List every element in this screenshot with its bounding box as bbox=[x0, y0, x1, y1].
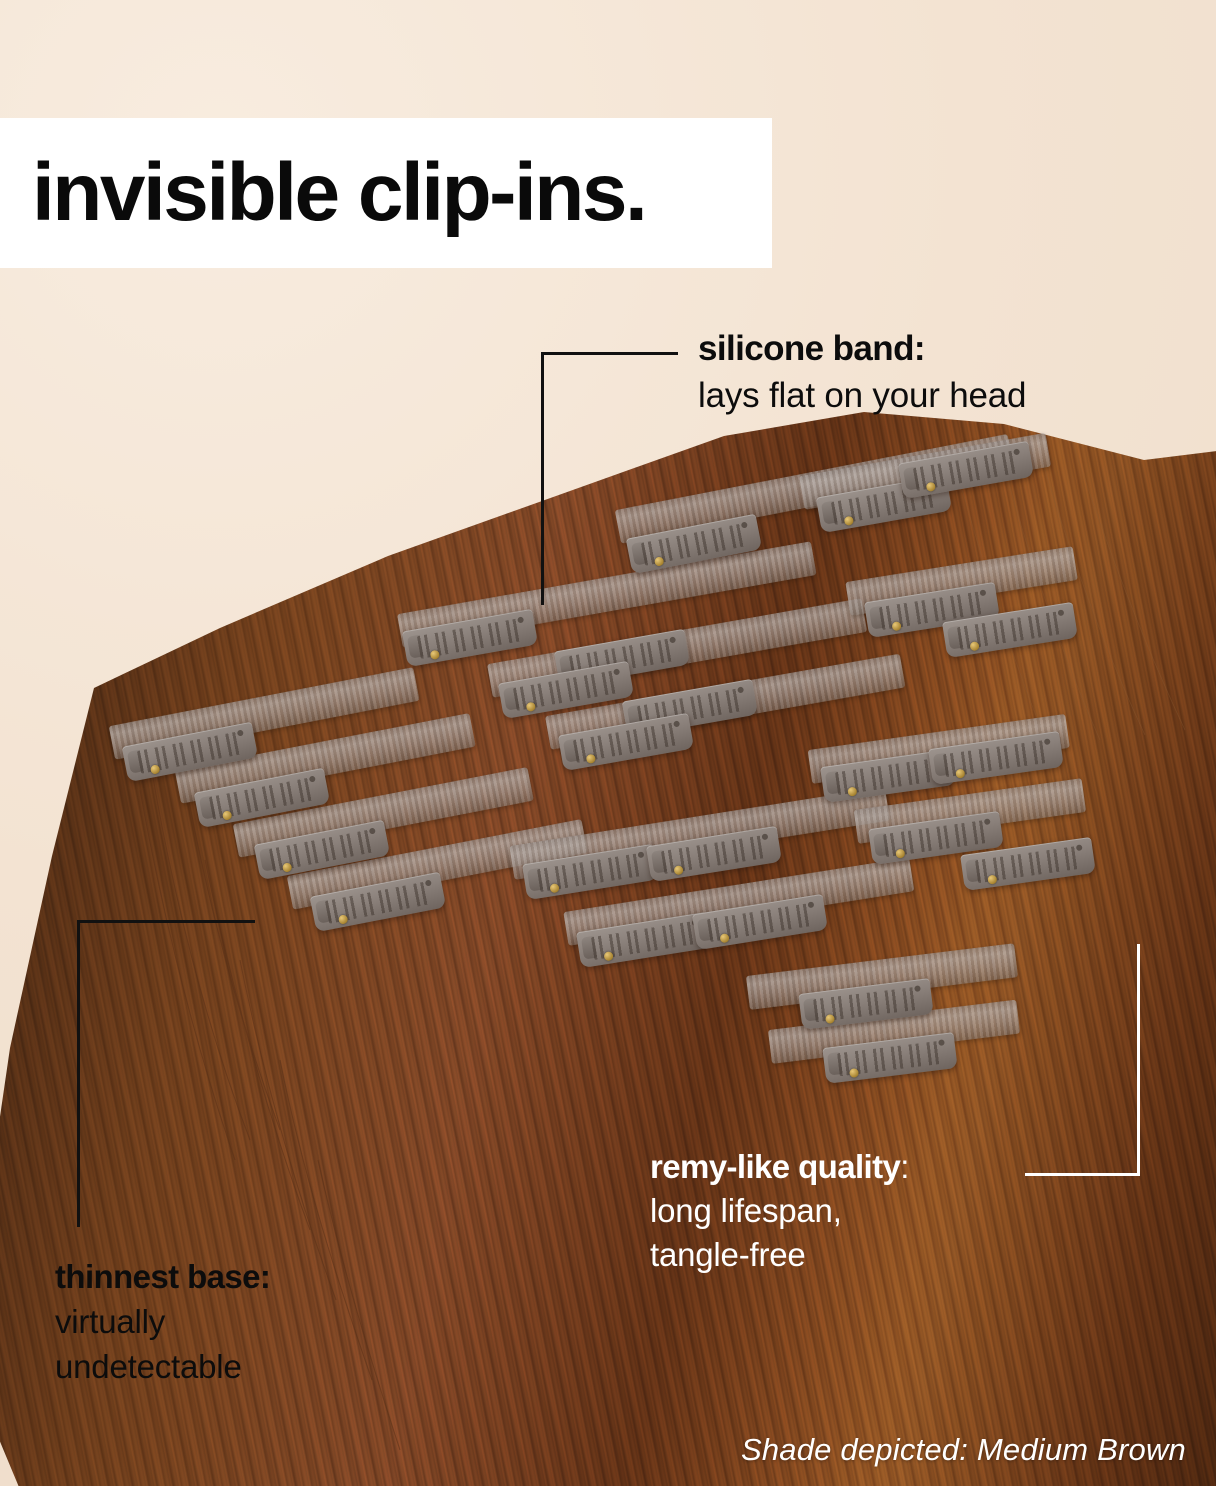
clip-rivet bbox=[969, 641, 979, 651]
callout-remy-quality: remy-like quality: long lifespan, tangle… bbox=[650, 1148, 1050, 1274]
snap-clip bbox=[522, 844, 658, 900]
snap-clip bbox=[692, 894, 828, 950]
callout-body-line-2: tangle-free bbox=[650, 1235, 1050, 1275]
callout-heading-text: remy-like quality bbox=[650, 1148, 900, 1185]
clip-hole bbox=[309, 776, 316, 783]
clip-rivet bbox=[430, 650, 440, 660]
clip-rivet bbox=[844, 516, 854, 526]
clip-rivet bbox=[526, 702, 536, 712]
callout-heading: silicone band: bbox=[698, 328, 1168, 369]
clip-rivet bbox=[895, 849, 905, 859]
clip-hole bbox=[669, 636, 676, 643]
clip-rivet bbox=[673, 865, 683, 875]
snap-clip bbox=[822, 1032, 957, 1084]
shade-caption: Shade depicted: Medium Brown bbox=[741, 1432, 1186, 1468]
page-title: invisible clip-ins. bbox=[0, 152, 645, 234]
clip-rivet bbox=[338, 914, 349, 925]
clip-rivet bbox=[849, 1068, 859, 1078]
clip-hole bbox=[737, 686, 744, 693]
clip-hole bbox=[980, 589, 987, 596]
clip-hole bbox=[984, 818, 991, 825]
snap-clip bbox=[576, 912, 712, 968]
callout-body-line-1: long lifespan, bbox=[650, 1191, 1050, 1231]
clip-hole bbox=[1013, 448, 1020, 455]
clip-rivet bbox=[825, 1014, 835, 1024]
clip-hole bbox=[1044, 738, 1051, 745]
clip-hole bbox=[914, 985, 921, 992]
clip-hole bbox=[638, 851, 645, 858]
clip-hole bbox=[741, 522, 748, 529]
clip-rivet bbox=[955, 769, 965, 779]
snap-clip bbox=[402, 609, 538, 667]
leader-segment-vertical bbox=[541, 352, 544, 605]
snap-clip bbox=[928, 731, 1064, 785]
leader-segment-horizontal bbox=[541, 352, 678, 355]
callout-heading-colon: : bbox=[900, 1148, 909, 1185]
callout-body-line-1: virtually bbox=[55, 1302, 415, 1342]
clip-hole bbox=[237, 730, 244, 737]
clip-rivet bbox=[603, 951, 613, 961]
leader-segment-vertical bbox=[77, 920, 80, 1227]
infographic-canvas: invisible clip-ins. silicone band: lays … bbox=[0, 0, 1216, 1486]
clip-hole bbox=[1058, 609, 1065, 616]
leader-segment-vertical bbox=[1137, 944, 1140, 1173]
clip-rivet bbox=[847, 787, 857, 797]
snap-clip bbox=[898, 441, 1034, 499]
clip-hole bbox=[425, 880, 432, 887]
snap-clip bbox=[194, 768, 330, 829]
clip-rivet bbox=[891, 621, 901, 631]
snap-clip bbox=[646, 826, 782, 882]
callout-silicone-band: silicone band: lays flat on your head bbox=[698, 328, 1168, 417]
clip-rivet bbox=[987, 875, 997, 885]
clip-hole bbox=[938, 1039, 945, 1046]
callout-body: lays flat on your head bbox=[698, 375, 1168, 417]
clip-hole bbox=[1076, 844, 1083, 851]
clip-hole bbox=[808, 901, 815, 908]
leader-line-thinnest-base bbox=[77, 920, 257, 1230]
clip-rivet bbox=[282, 862, 293, 873]
snap-clip bbox=[798, 978, 933, 1030]
snap-clip bbox=[122, 722, 258, 783]
leader-line-silicone-band bbox=[541, 352, 681, 608]
callout-body-line-2: undetectable bbox=[55, 1347, 415, 1387]
clip-hole bbox=[673, 720, 680, 727]
clip-rivet bbox=[150, 764, 161, 775]
title-band: invisible clip-ins. bbox=[0, 118, 772, 268]
callout-thinnest-base: thinnest base: virtually undetectable bbox=[55, 1258, 415, 1386]
callout-heading: thinnest base: bbox=[55, 1258, 415, 1297]
clip-hole bbox=[517, 616, 524, 623]
callout-heading: remy-like quality: bbox=[650, 1148, 1050, 1187]
leader-line-remy-quality bbox=[1025, 944, 1140, 1176]
clip-hole bbox=[369, 828, 376, 835]
snap-clip bbox=[310, 872, 446, 933]
clip-rivet bbox=[586, 754, 596, 764]
clip-rivet bbox=[719, 933, 729, 943]
snap-clip bbox=[254, 820, 390, 881]
clip-rivet bbox=[926, 482, 936, 492]
clip-hole bbox=[613, 668, 620, 675]
clip-rivet bbox=[549, 883, 559, 893]
clip-hole bbox=[762, 833, 769, 840]
leader-segment-horizontal bbox=[77, 920, 255, 923]
clip-rivet bbox=[222, 810, 233, 821]
